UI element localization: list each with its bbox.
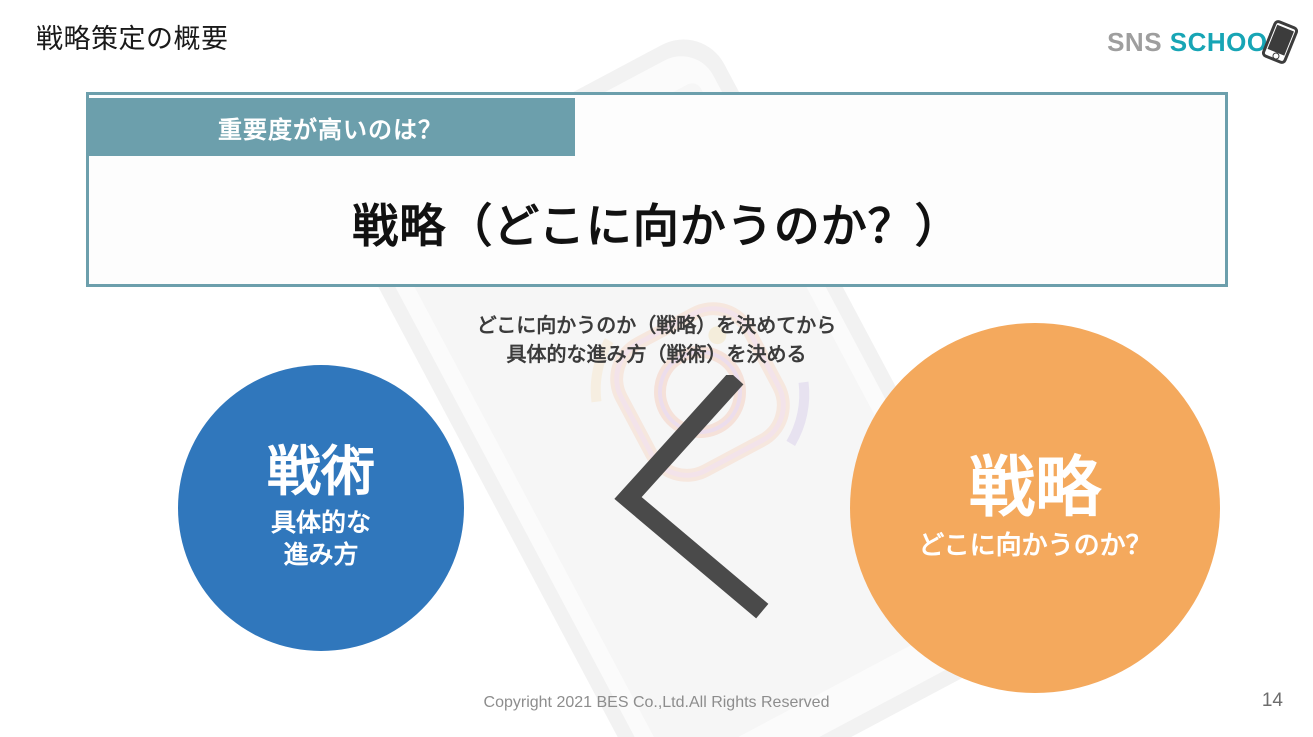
strategy-circle-subtitle-line-1: どこに向かうのか？: [918, 529, 1151, 563]
callout-headline: 戦略（どこに向かうのか？）: [86, 160, 1228, 285]
callout-headline-text: 戦略（どこに向かうのか？）: [352, 190, 962, 256]
page-number: 14: [1262, 690, 1283, 712]
less-than-chevron-icon: [600, 375, 790, 620]
page-title: 戦略策定の概要: [36, 17, 229, 56]
brand-logo: SNS SCHOOL: [1107, 22, 1293, 62]
strategy-circle-subtitle: どこに向かうのか？: [918, 529, 1151, 563]
callout-tab: 重要度が高いのは？: [86, 98, 575, 156]
strategy-circle: 戦略 どこに向かうのか？: [850, 323, 1220, 693]
tactics-circle-subtitle: 具体的な 進み方: [271, 507, 371, 572]
footer-copyright: Copyright 2021 BES Co.,Ltd.All Rights Re…: [0, 694, 1313, 712]
slide-canvas: 戦略策定の概要 SNS SCHOOL 重要度が高いのは？ 戦略（どこに向かうのか…: [0, 0, 1313, 737]
tactics-circle-title: 戦術: [267, 444, 375, 501]
logo-text-sns: SNS: [1107, 27, 1170, 57]
tactics-circle: 戦術 具体的な 進み方: [178, 365, 464, 651]
tactics-circle-subtitle-line-1: 具体的な: [271, 507, 371, 540]
strategy-circle-title: 戦略: [969, 453, 1101, 522]
tactics-circle-subtitle-line-2: 進み方: [271, 539, 371, 572]
logo-text: SNS SCHOOL: [1107, 27, 1284, 58]
annotation-line-1: どこに向かうのか（戦略）を決めてから: [0, 312, 1313, 341]
callout-tab-label: 重要度が高いのは？: [218, 110, 443, 145]
